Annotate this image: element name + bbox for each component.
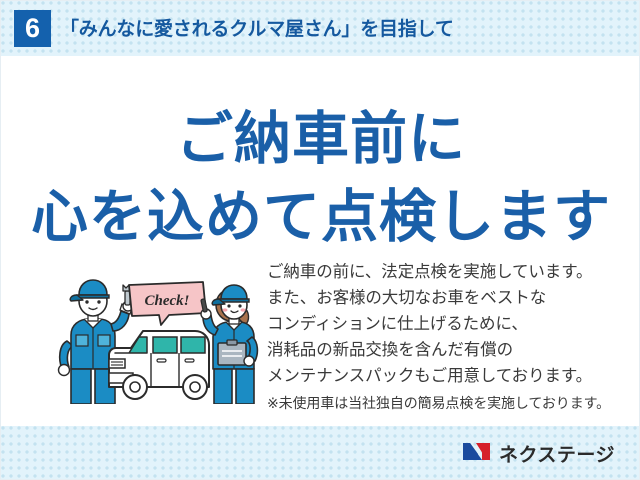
header-bar: 6 「みんなに愛されるクルマ屋さん」を目指して	[1, 1, 640, 56]
clipboard-icon	[218, 340, 246, 365]
body-note: ※未使用車は当社独自の簡易点検を実施しております。	[267, 391, 627, 415]
body-line: メンテナンスパックもご用意しております。	[267, 363, 627, 389]
promo-card: 6 「みんなに愛されるクルマ屋さん」を目指して ご納車前に 心を込めて点検します…	[0, 0, 640, 480]
nextage-logo-icon	[462, 440, 492, 467]
speech-bubble-text: Check!	[145, 293, 190, 309]
mechanics-illustration: Check!	[53, 269, 263, 404]
body-line: 消耗品の新品交換を含んだ有償の	[267, 337, 627, 363]
van-illustration	[109, 331, 209, 399]
brand-name: ネクステージ	[499, 440, 615, 467]
section-number-badge: 6	[14, 10, 51, 47]
body-line: また、お客様の大切なお車をベストな	[267, 285, 627, 311]
body-line: コンディションに仕上げるために、	[267, 311, 627, 337]
header-title: 「みんなに愛されるクルマ屋さん」を目指して	[60, 14, 454, 41]
check-speech-bubble: Check!	[129, 282, 206, 325]
body-line: ご納車の前に、法定点検を実施しています。	[267, 259, 627, 285]
headline-line-2: 心を込めて点検します	[1, 171, 640, 253]
footer-bar: ネクステージ	[1, 426, 640, 480]
headline-line-1: ご納車前に	[1, 93, 640, 175]
body-copy: ご納車の前に、法定点検を実施しています。 また、お客様の大切なお車をベストな コ…	[267, 259, 627, 415]
brand-lockup: ネクステージ	[462, 440, 615, 467]
